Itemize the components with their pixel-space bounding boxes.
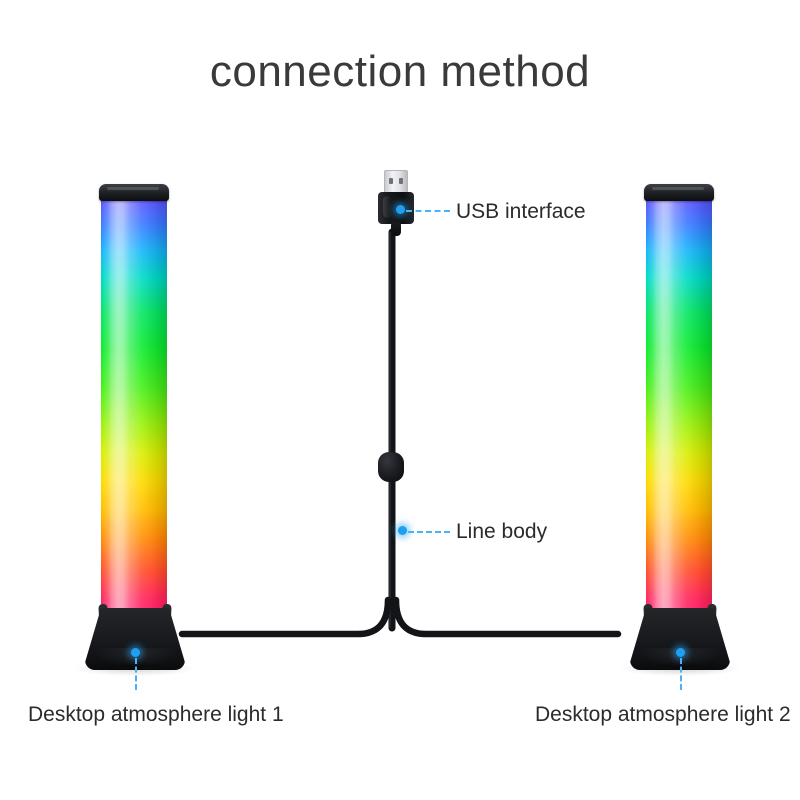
callout-marker-light-2 [676,648,685,657]
callout-marker-usb-interface [396,205,405,214]
cable-branch-right [396,600,618,634]
usb-strain-relief [391,222,401,236]
usb-connector [378,170,414,236]
cable-ferrite-bead [378,452,404,482]
callout-label-light-1: Desktop atmosphere light 1 [28,704,284,725]
callout-label-usb-interface: USB interface [456,201,586,222]
callout-marker-light-1 [131,648,140,657]
tube-end-cap-left [99,184,169,201]
lamp-right [620,178,740,678]
callout-leader-usb-interface [406,210,450,212]
callout-leader-light-1 [135,658,137,690]
callout-label-light-2: Desktop atmosphere light 2 [535,704,791,725]
callout-leader-line-body [408,531,450,533]
callout-marker-line-body [398,526,407,535]
callout-leader-light-2 [680,658,682,690]
usb-metal-tip [384,170,408,194]
tube-end-cap-right [644,184,714,201]
lamp-left [75,178,195,678]
rgb-light-tube-right [646,190,712,628]
cable-branch-left [182,600,388,634]
page-title: connection method [0,48,800,96]
callout-label-line-body: Line body [456,521,547,542]
diagram-canvas: connection method [0,0,800,800]
rgb-light-tube-left [101,190,167,628]
